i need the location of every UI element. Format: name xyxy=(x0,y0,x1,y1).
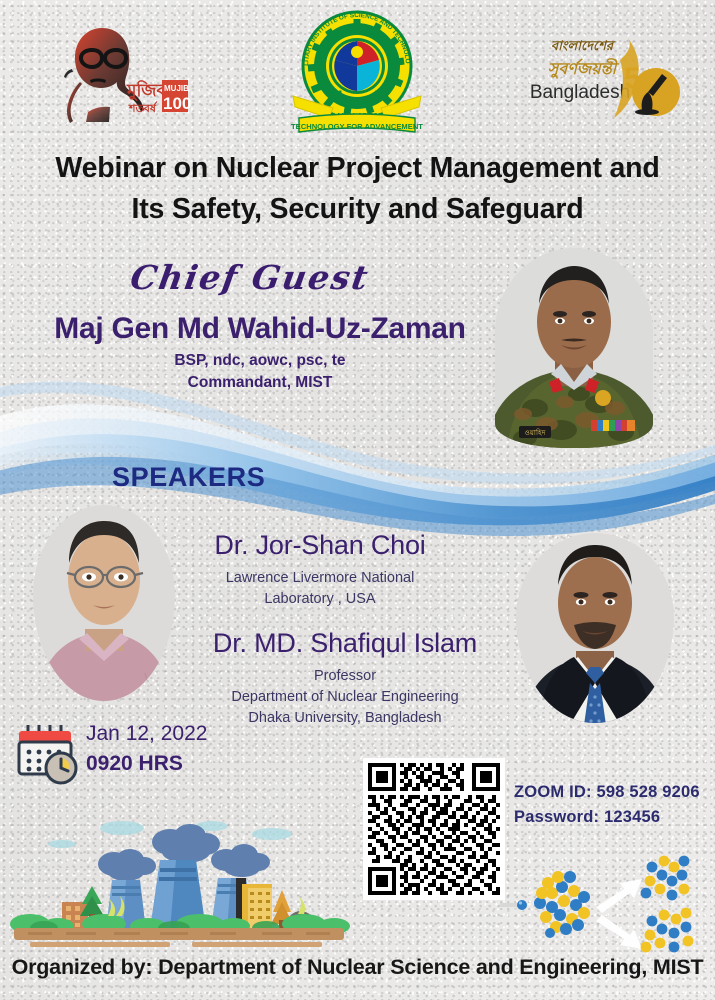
speaker-1-portrait-icon xyxy=(33,505,175,701)
svg-text:MUJIB: MUJIB xyxy=(164,84,189,93)
svg-text:শতবর্ষ: শতবর্ষ xyxy=(128,101,158,115)
logo-row: মুজিব শতবর্ষ MUJIB 100 xyxy=(0,0,715,140)
qr-code[interactable] xyxy=(363,758,505,900)
svg-text:TECHNOLOGY FOR ADVANCEMENT: TECHNOLOGY FOR ADVANCEMENT xyxy=(291,122,423,131)
svg-text:M: M xyxy=(333,89,342,101)
nuclear-fission-illustration xyxy=(500,845,715,957)
daughter-nucleus-bottom xyxy=(641,908,694,953)
zoom-meeting-id: ZOOM ID: 598 528 9206 xyxy=(514,783,700,802)
speaker-2-affiliation-line-2: Department of Nuclear Engineering xyxy=(180,687,510,708)
event-date: Jan 12, 2022 xyxy=(86,722,207,746)
svg-text:ওয়াহিদ: ওয়াহিদ xyxy=(525,429,546,437)
smoke-plume-right xyxy=(211,844,270,877)
speaker-2-affiliation: Professor Department of Nuclear Engineer… xyxy=(180,666,510,729)
chief-guest-name: Maj Gen Md Wahid-Uz-Zaman xyxy=(0,312,520,346)
poster-title: Webinar on Nuclear Project Management an… xyxy=(0,148,715,230)
svg-text:100: 100 xyxy=(163,94,191,113)
speaker-2-photo xyxy=(516,533,674,723)
title-line-2: Its Safety, Security and Safeguard xyxy=(0,189,715,230)
speaker-2-portrait-icon xyxy=(516,533,674,723)
speaker-1-affiliation-line-1: Lawrence Livermore National xyxy=(155,568,485,589)
title-line-1: Webinar on Nuclear Project Management an… xyxy=(0,148,715,189)
daughter-nucleus-top xyxy=(641,856,690,901)
speaker-2-name: Dr. MD. Shafiqul Islam xyxy=(180,628,510,659)
speaker-2-affiliation-line-3: Dhaka University, Bangladesh xyxy=(180,708,510,729)
svg-text:Bangladesh: Bangladesh xyxy=(530,82,630,103)
speaker-2-affiliation-line-1: Professor xyxy=(180,666,510,687)
chief-guest-photo: ওয়াহিদ xyxy=(495,248,653,448)
chief-guest-designation: Commandant, MIST xyxy=(0,372,520,394)
mujib-100-logo: মুজিব শতবর্ষ MUJIB 100 xyxy=(48,24,188,124)
svg-text:T: T xyxy=(375,89,382,101)
svg-text:S: S xyxy=(361,95,368,107)
svg-text:সুবর্ণজয়ন্তী: সুবর্ণজয়ন্তী xyxy=(548,58,620,79)
parent-nucleus xyxy=(534,871,590,938)
zoom-password: Password: 123456 xyxy=(514,808,660,827)
speaker-1-affiliation-line-2: Laboratory , USA xyxy=(155,589,485,610)
mujib-100-wordmark-icon: মুজিব শতবর্ষ MUJIB 100 xyxy=(126,76,188,120)
chief-guest-honours: BSP, ndc, aowc, psc, te xyxy=(0,350,520,372)
fission-arrows xyxy=(596,879,642,949)
speaker-1-photo xyxy=(33,505,175,701)
svg-text:মুজিব: মুজিব xyxy=(126,79,168,101)
incoming-neutron xyxy=(500,900,527,910)
speaker-1-name: Dr. Jor-Shan Choi xyxy=(155,530,485,561)
qr-code-image xyxy=(368,763,500,895)
golden-jubilee-logo-icon: বাংলাদেশের সুবর্ণজয়ন্তী Bangladesh 5 xyxy=(516,26,682,124)
event-time: 0920 HRS xyxy=(86,752,183,776)
webinar-poster: মুজিব শতবর্ষ MUJIB 100 xyxy=(0,0,715,1000)
chief-guest-details: BSP, ndc, aowc, psc, te Commandant, MIST xyxy=(0,350,520,394)
svg-text:বাংলাদেশের: বাংলাদেশের xyxy=(551,38,616,53)
chief-guest-label: Chief Guest xyxy=(0,258,503,297)
calendar-clock-icon xyxy=(16,723,80,785)
nuclear-power-plant-illustration xyxy=(4,818,356,950)
speakers-section-label: SPEAKERS xyxy=(112,462,265,493)
svg-text:I: I xyxy=(347,95,350,107)
smoke-plume-left xyxy=(98,849,156,881)
speaker-1-affiliation: Lawrence Livermore National Laboratory ,… xyxy=(155,568,485,609)
organized-by-text: Organized by: Department of Nuclear Scie… xyxy=(0,955,715,980)
chief-guest-portrait-icon: ওয়াহিদ xyxy=(495,248,653,448)
mist-crest-icon: MILITARY INSTITUTE OF SCIENCE AND TECHNO… xyxy=(283,8,431,136)
